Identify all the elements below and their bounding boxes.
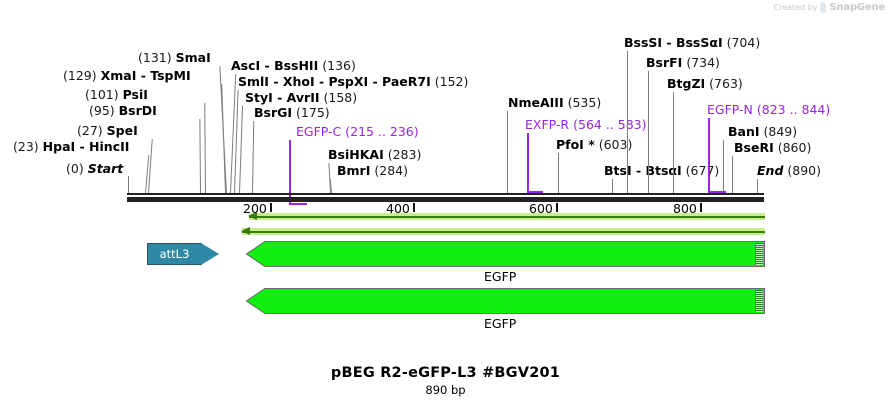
site-name-smli: SmlI - XhoI - PspXI - PaeR7I	[238, 74, 431, 89]
site-name-bsrgi: BsrGI	[254, 105, 292, 120]
leader-line-end	[757, 179, 758, 193]
site-name-btgzi: BtgZI	[667, 76, 705, 91]
primer-leader-egfp-c	[289, 140, 291, 205]
site-label-bsihkai[interactable]: BsiHKAI (283)	[328, 147, 421, 162]
feature-egfp-2-label: EGFP	[484, 316, 516, 331]
feature-egfp-2-end-hatch	[755, 290, 763, 312]
site-pos-smli: (152)	[435, 74, 469, 89]
site-label-smai[interactable]: (131) SmaI	[138, 50, 211, 65]
leader-line-pfoi	[558, 153, 559, 193]
site-pos-xmai: (129)	[63, 68, 97, 83]
site-label-styi[interactable]: StyI - AvrII (158)	[245, 90, 357, 105]
primer-name-egfp-n: EGFP-N	[707, 102, 753, 117]
leader-line-styi	[239, 106, 243, 193]
leader-line-start	[128, 176, 129, 193]
site-pos-bani: (849)	[764, 124, 798, 139]
watermark-brand: SnapGene	[829, 2, 885, 13]
site-name-bsssi: BssSI - BssSαI	[624, 35, 723, 50]
site-name-xmai: XmaI - TspMI	[101, 68, 191, 83]
leader-line-nmeaiii	[507, 111, 508, 193]
leader-line-bsrgi	[252, 121, 254, 193]
site-name-bsrfi: BsrFI	[646, 55, 682, 70]
primer-range-egfp-n: (823 .. 844)	[757, 102, 830, 117]
site-pos-smai: (131)	[138, 50, 172, 65]
site-pos-start: (0)	[66, 161, 84, 176]
site-pos-asci: (136)	[322, 58, 356, 73]
feature-egfp-2-body	[264, 288, 765, 314]
site-name-start: Start	[88, 161, 124, 176]
site-name-btsi: BtsI - BtsαI	[604, 163, 682, 178]
plasmid-map-canvas: Created by SnapGene (0) Start (23) HpaI …	[0, 0, 891, 404]
site-label-bmri[interactable]: BmrI (284)	[337, 163, 408, 178]
feature-egfp-1-arrowhead-outline	[246, 241, 265, 267]
leader-line-bmri	[330, 179, 332, 193]
site-label-bsrfi[interactable]: BsrFI (734)	[646, 55, 720, 70]
feature-egfp-1[interactable]	[246, 241, 765, 267]
site-name-nmeaiii: NmeAIII	[508, 95, 564, 110]
site-name-asci: AscI - BssHII	[231, 58, 318, 73]
site-pos-end: (890)	[787, 163, 821, 178]
ruler-tick-400	[413, 203, 415, 212]
site-pos-btgzi: (763)	[709, 76, 743, 91]
site-pos-bmri: (284)	[374, 163, 408, 178]
snapgene-logo-icon	[820, 2, 826, 13]
feature-egfp-1-body	[264, 241, 765, 267]
leader-line-bsrdi	[199, 119, 201, 193]
site-label-hpai[interactable]: (23) HpaI - HincII	[13, 139, 129, 154]
translation-arrow-1[interactable]	[249, 213, 765, 220]
site-label-bani[interactable]: BanI (849)	[728, 124, 797, 139]
site-pos-btsi: (677)	[686, 163, 720, 178]
site-name-psii: PsiI	[123, 87, 148, 102]
ruler-tick-800	[700, 203, 702, 212]
leader-line-bseri	[732, 156, 733, 193]
leader-line-btgzi	[673, 92, 674, 193]
page-title: pBEG R2-eGFP-L3 #BGV201	[0, 365, 891, 381]
translation-arrow-1-body	[249, 216, 765, 218]
plasmid-backbone-top	[127, 193, 764, 195]
site-label-pfoi[interactable]: PfoI * (603)	[556, 137, 632, 152]
site-name-bseri: BseRI	[734, 140, 774, 155]
primer-range-egfp-c: (215 .. 236)	[345, 124, 418, 139]
site-pos-bsrgi: (175)	[296, 105, 330, 120]
site-pos-styi: (158)	[324, 90, 358, 105]
primer-leader-exfp-r	[527, 133, 529, 193]
site-pos-bsrfi: (734)	[686, 55, 720, 70]
site-label-xmai[interactable]: (129) XmaI - TspMI	[63, 68, 191, 83]
leader-line-smai	[219, 66, 227, 193]
site-pos-psii: (101)	[85, 87, 119, 102]
primer-name-exfp-r: EXFP-R	[525, 117, 569, 132]
site-pos-bsrdi: (95)	[89, 103, 115, 118]
site-label-nmeaiii[interactable]: NmeAIII (535)	[508, 95, 601, 110]
site-label-psii[interactable]: (101) PsiI	[85, 87, 148, 102]
site-name-styi: StyI - AvrII	[245, 90, 320, 105]
plasmid-backbone	[127, 197, 764, 202]
site-name-bani: BanI	[728, 124, 760, 139]
primer-label-exfp-r[interactable]: EXFP-R (564 .. 583)	[525, 117, 646, 132]
site-pos-spei: (27)	[77, 123, 103, 138]
site-label-bsrdi[interactable]: (95) BsrDI	[89, 103, 157, 118]
feature-egfp-2[interactable]	[246, 288, 765, 314]
feature-attl3-label: attL3	[147, 243, 202, 265]
snapgene-watermark: Created by SnapGene	[773, 2, 885, 13]
feature-egfp-1-end-hatch	[755, 243, 763, 265]
site-label-btsi[interactable]: BtsI - BtsαI (677)	[604, 163, 719, 178]
leader-line-psii	[204, 103, 206, 193]
site-label-bsssi[interactable]: BssSI - BssSαI (704)	[624, 35, 760, 50]
site-pos-nmeaiii: (535)	[568, 95, 602, 110]
ruler-tick-600	[556, 203, 558, 212]
site-label-smli[interactable]: SmlI - XhoI - PspXI - PaeR7I (152)	[238, 74, 468, 89]
leader-line-btsi	[612, 179, 613, 193]
ruler-tick-200	[270, 203, 272, 212]
site-name-bsihkai: BsiHKAI	[328, 147, 384, 162]
feature-attl3[interactable]: attL3	[147, 243, 219, 265]
primer-label-egfp-c[interactable]: EGFP-C (215 .. 236)	[296, 124, 419, 139]
plasmid-length: 890 bp	[0, 383, 891, 397]
site-name-hpai: HpaI - HincII	[43, 139, 130, 154]
translation-arrow-1-head	[248, 212, 257, 220]
site-name-bmri: BmrI	[337, 163, 370, 178]
translation-arrow-2-head	[241, 227, 250, 235]
feature-attl3-arrowhead	[201, 243, 219, 265]
site-label-bseri[interactable]: BseRI (860)	[734, 140, 811, 155]
site-label-bsrgi[interactable]: BsrGI (175)	[254, 105, 330, 120]
site-label-asci[interactable]: AscI - BssHII (136)	[231, 58, 356, 73]
site-label-spei[interactable]: (27) SpeI	[77, 123, 138, 138]
site-label-btgzi[interactable]: BtgZI (763)	[667, 76, 743, 91]
translation-arrow-2[interactable]	[242, 228, 765, 235]
feature-egfp-1-label: EGFP	[484, 269, 516, 284]
site-pos-bsihkai: (283)	[388, 147, 422, 162]
site-name-bsrdi: BsrDI	[119, 103, 157, 118]
site-label-end[interactable]: End (890)	[757, 163, 821, 178]
site-label-start[interactable]: (0) Start	[66, 161, 123, 176]
primer-foot-egfp-c	[289, 203, 307, 205]
site-name-spei: SpeI	[107, 123, 138, 138]
primer-range-exfp-r: (564 .. 583)	[573, 117, 646, 132]
site-pos-bseri: (860)	[778, 140, 812, 155]
watermark-created-by: Created by	[773, 3, 817, 12]
primer-leader-egfp-n	[708, 118, 710, 193]
feature-egfp-2-arrowhead-outline	[246, 288, 265, 314]
site-pos-bsssi: (704)	[727, 35, 761, 50]
leader-line-bsssi	[627, 51, 628, 193]
site-name-end: End	[757, 163, 783, 178]
site-pos-hpai: (23)	[13, 139, 39, 154]
primer-label-egfp-n[interactable]: EGFP-N (823 .. 844)	[707, 102, 830, 117]
site-name-pfoi: PfoI *	[556, 137, 595, 152]
leader-line-bani	[723, 140, 724, 193]
leader-line-spei	[148, 139, 153, 193]
primer-name-egfp-c: EGFP-C	[296, 124, 341, 139]
site-name-smai: SmaI	[176, 50, 211, 65]
leader-line-bsrfi	[648, 71, 649, 193]
translation-arrow-2-body	[242, 231, 765, 233]
